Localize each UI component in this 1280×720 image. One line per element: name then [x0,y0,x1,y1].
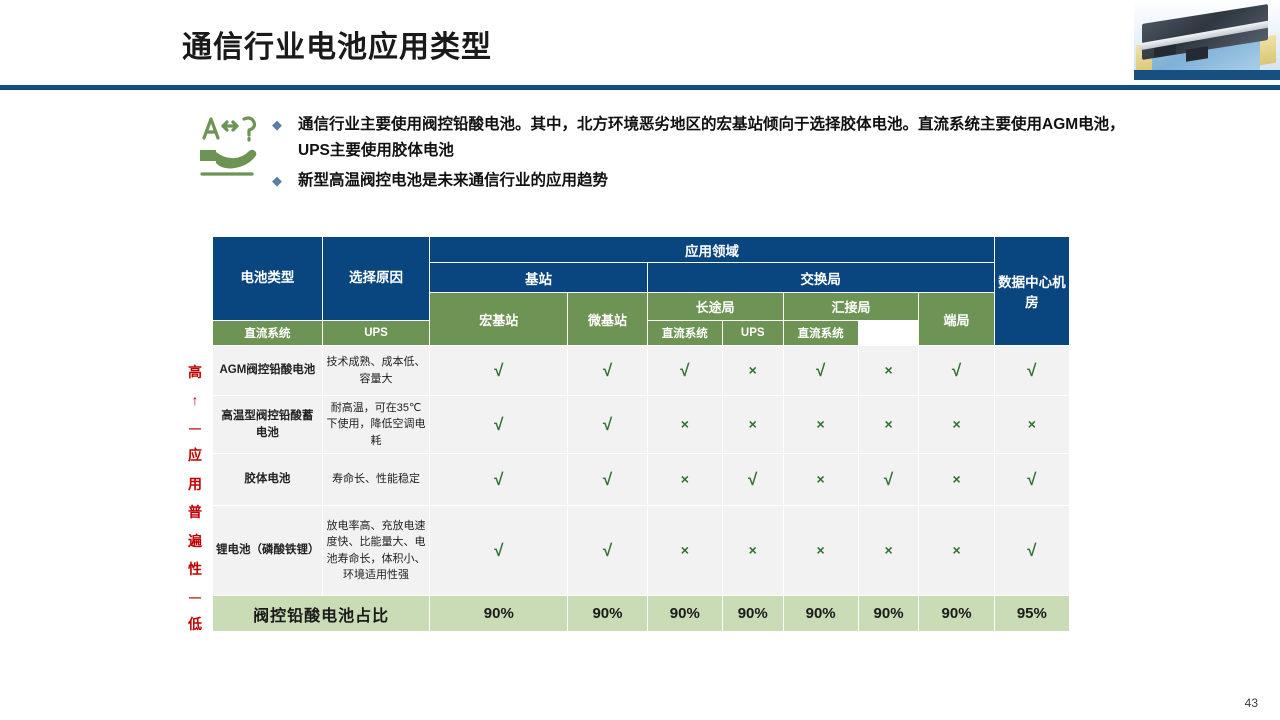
check-icon: √ [884,470,893,489]
cell-reason: 寿命长、性能稳定 [322,454,430,506]
cross-icon: × [749,362,757,378]
photo-base-strip [1134,70,1280,80]
axis-arrow-icon: ↑ [192,393,199,407]
axis-dash-bottom: — [189,591,201,603]
bullet-marker-icon: ◆ [272,168,298,194]
check-icon: √ [952,361,961,380]
cell-mark: √ [722,454,783,506]
axis-top-label: 高 [188,365,202,379]
cell-battery-name: 锂电池（磷酸铁锂） [213,506,323,596]
cell-mark: × [647,454,722,506]
summary-value: 90% [858,596,919,632]
check-icon: √ [680,361,689,380]
table-body: AGM阀控铅酸电池 技术成熟、成本低、容量大 √ √ √ × √ × √ √ 高… [213,346,1070,632]
cell-mark: × [919,454,994,506]
table-row: 胶体电池 寿命长、性能稳定 √ √ × √ × √ × √ [213,454,1070,506]
cell-mark: × [919,506,994,596]
cell-mark: √ [994,454,1069,506]
cell-mark: √ [430,506,568,596]
check-icon: √ [1027,541,1036,560]
cell-battery-name: 高温型阀控铅酸蓄电池 [213,396,323,454]
page-title: 通信行业电池应用类型 [182,22,492,66]
check-icon: √ [603,470,612,489]
cell-reason: 技术成熟、成本低、容量大 [322,346,430,396]
cell-mark: √ [783,346,858,396]
header-switch-office: 交换局 [647,263,994,293]
header-data-center: 数据中心机房 [994,237,1069,346]
check-icon: √ [603,541,612,560]
cross-icon: × [749,416,757,432]
cross-icon: × [749,542,757,558]
summary-label: 阀控铅酸电池占比 [213,596,430,632]
axis-char-1: 应 [188,448,202,462]
cell-mark: √ [919,346,994,396]
summary-value: 90% [430,596,568,632]
cell-mark: √ [430,454,568,506]
header-divider [0,85,1280,90]
cell-mark: × [994,396,1069,454]
summary-value: 90% [919,596,994,632]
cross-icon: × [681,416,689,432]
cell-mark: √ [430,346,568,396]
cell-mark: √ [568,396,647,454]
check-icon: √ [603,361,612,380]
check-icon: √ [494,415,503,434]
header-tandem-office: 汇接局 [783,293,919,321]
table-row: 锂电池（磷酸铁锂） 放电率高、充放电速度快、比能量大、电池寿命长，体积小、环境适… [213,506,1070,596]
axis-dash-top: — [189,422,201,434]
cell-mark: √ [647,346,722,396]
cell-mark: × [783,506,858,596]
check-icon: √ [816,361,825,380]
check-icon: √ [494,361,503,380]
summary-value: 90% [722,596,783,632]
header-ups-1: UPS [322,321,430,346]
cell-reason: 放电率高、充放电速度快、比能量大、电池寿命长，体积小、环境适用性强 [322,506,430,596]
cross-icon: × [952,416,960,432]
header-end-office: 端局 [919,293,994,346]
cell-mark: × [722,506,783,596]
cross-icon: × [1028,416,1036,432]
header-battery-type: 电池类型 [213,237,323,321]
bullet-item-2: ◆ 新型高温阀控电池是未来通信行业的应用趋势 [272,168,1152,194]
cell-mark: × [858,396,919,454]
header-dc-system-3: 直流系统 [783,321,858,346]
cross-icon: × [817,416,825,432]
cell-mark: × [722,396,783,454]
battery-application-table: 电池类型 选择原因 应用领域 数据中心机房 基站 交换局 宏基站 微基站 长途局… [212,236,1070,632]
axis-char-5: 性 [188,562,202,576]
battery-equipment-photo [1134,0,1280,80]
cell-mark: × [919,396,994,454]
cross-icon: × [681,542,689,558]
header-ups-2: UPS [722,321,783,346]
check-icon: √ [1027,361,1036,380]
cross-icon: × [884,542,892,558]
check-icon: √ [494,541,503,560]
cross-icon: × [952,542,960,558]
cross-icon: × [817,471,825,487]
cell-mark: √ [858,454,919,506]
slide-root: 通信行业电池应用类型 [0,0,1280,720]
check-icon: √ [1027,470,1036,489]
axis-bottom-label: 低 [188,617,202,631]
axis-char-4: 遍 [188,534,202,548]
cell-mark: × [647,396,722,454]
bullet-marker-icon: ◆ [272,112,298,138]
cell-mark: × [647,506,722,596]
cell-battery-name: AGM阀控铅酸电池 [213,346,323,396]
cell-mark: × [783,454,858,506]
page-number: 43 [1245,696,1258,710]
cross-icon: × [952,471,960,487]
cell-mark: √ [430,396,568,454]
header-base-station: 基站 [430,263,647,293]
cell-battery-name: 胶体电池 [213,454,323,506]
summary-value: 90% [568,596,647,632]
cross-icon: × [817,542,825,558]
check-icon: √ [603,415,612,434]
cell-reason: 耐高温，可在35℃下使用，降低空调电耗 [322,396,430,454]
table-summary-row: 阀控铅酸电池占比 90% 90% 90% 90% 90% 90% 90% 95% [213,596,1070,632]
table-row: 高温型阀控铅酸蓄电池 耐高温，可在35℃下使用，降低空调电耗 √ √ × × ×… [213,396,1070,454]
bullet-text-1: 通信行业主要使用阀控铅酸电池。其中，北方环境恶劣地区的宏基站倾向于选择胶体电池。… [298,112,1152,164]
summary-value: 90% [647,596,722,632]
applicability-axis-label: 高 ↑ — 应 用 普 遍 性 — 低 [182,365,208,631]
check-icon: √ [494,470,503,489]
header-reason: 选择原因 [322,237,430,321]
bullet-text-2: 新型高温阀控电池是未来通信行业的应用趋势 [298,168,608,194]
cross-icon: × [681,471,689,487]
header-long-distance-office: 长途局 [647,293,783,321]
header-dc-system-1: 直流系统 [213,321,323,346]
cell-mark: × [722,346,783,396]
table-header-row-1: 电池类型 选择原因 应用领域 数据中心机房 [213,237,1070,263]
check-icon: √ [748,470,757,489]
header-micro-station: 微基站 [568,293,647,346]
cell-mark: √ [568,346,647,396]
cross-icon: × [884,416,892,432]
header-macro-station: 宏基站 [430,293,568,346]
summary-value: 90% [783,596,858,632]
bullet-list: ◆ 通信行业主要使用阀控铅酸电池。其中，北方环境恶劣地区的宏基站倾向于选择胶体电… [272,112,1152,194]
header-application-domain: 应用领域 [430,237,994,263]
table-row: AGM阀控铅酸电池 技术成熟、成本低、容量大 √ √ √ × √ × √ √ [213,346,1070,396]
bullet-item-1: ◆ 通信行业主要使用阀控铅酸电池。其中，北方环境恶劣地区的宏基站倾向于选择胶体电… [272,112,1152,164]
cell-mark: √ [994,346,1069,396]
cell-mark: × [858,506,919,596]
axis-char-3: 普 [188,505,202,519]
header-dc-system-2: 直流系统 [647,321,722,346]
hand-question-icon [196,112,268,180]
cross-icon: × [884,362,892,378]
cell-mark: √ [568,454,647,506]
axis-char-2: 用 [188,477,202,491]
cell-mark: × [858,346,919,396]
cell-mark: √ [568,506,647,596]
summary-value: 95% [994,596,1069,632]
cell-mark: × [783,396,858,454]
cell-mark: √ [994,506,1069,596]
